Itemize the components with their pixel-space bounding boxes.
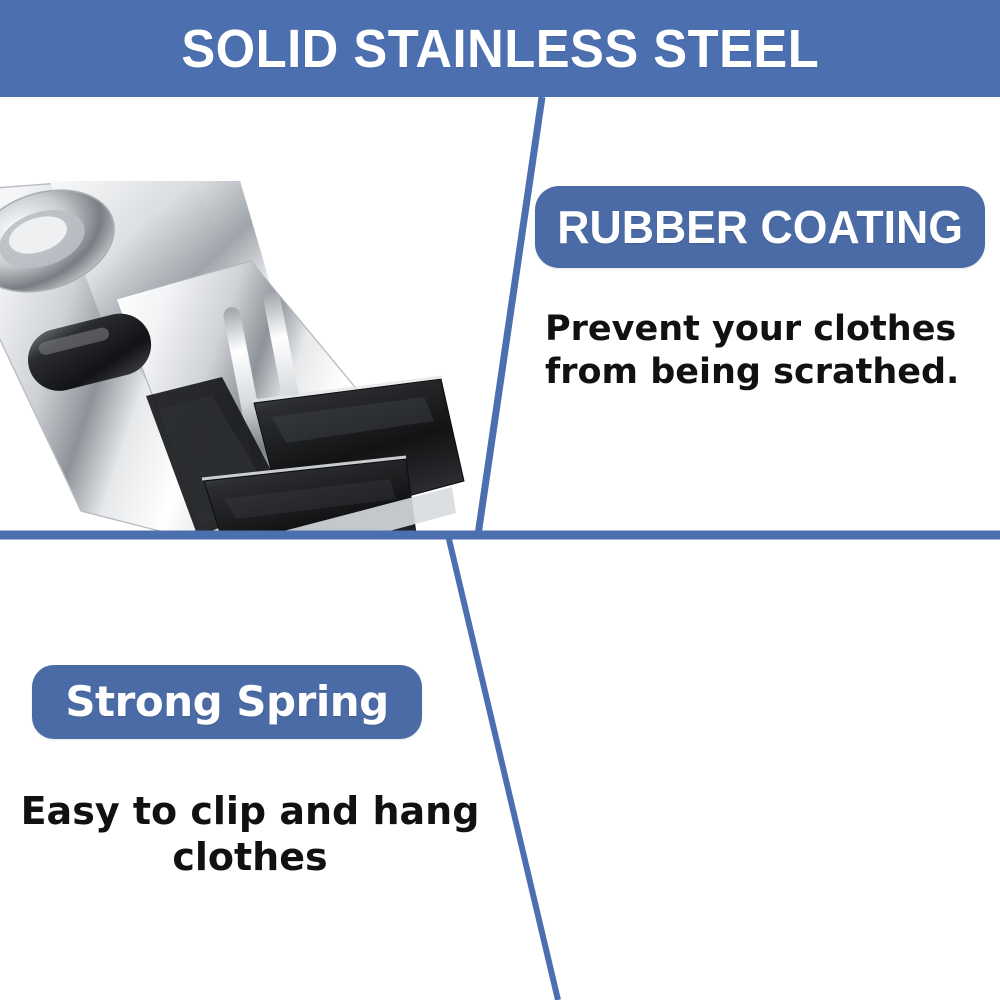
- header-banner: SOLID STAINLESS STEEL: [0, 0, 1000, 97]
- badge-rubber-coating: RUBBER COATING: [535, 186, 985, 268]
- stainless-clip-photo: [0, 181, 540, 535]
- panel-bottom-left: [0, 537, 470, 1000]
- infographic-canvas: RUBBER COATING Prevent your clothes from…: [0, 0, 1000, 1000]
- badge-strong-spring: Strong Spring: [32, 665, 422, 739]
- description-strong-spring: Easy to clip and hang clothes: [10, 788, 490, 881]
- page-title: SOLID STAINLESS STEEL: [181, 22, 819, 76]
- panel-top-left: [0, 97, 540, 535]
- description-rubber-coating: Prevent your clothes from being scrathed…: [545, 308, 990, 393]
- badge-strong-spring-label: Strong Spring: [65, 681, 388, 723]
- badge-rubber-coating-label: RUBBER COATING: [557, 204, 963, 250]
- panel-bottom-right: [430, 537, 1000, 1000]
